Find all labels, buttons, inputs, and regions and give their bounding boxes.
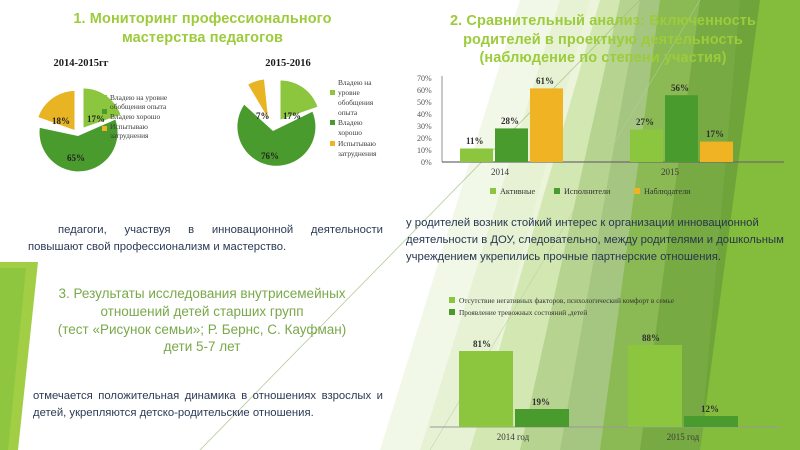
chart3-bar-2015-komfort (628, 345, 682, 427)
chart3-label-2014-trevoga: 19% (532, 397, 550, 407)
chart2-ytick-40: 40% (417, 110, 432, 119)
section1-paragraph: педагоги, участвуя в инновационной деяте… (28, 222, 383, 256)
pie2-legend-swatch-2 (330, 141, 335, 146)
chart2-group-2015: 27% 56% 17% 2015 (630, 83, 733, 177)
pie-chart-2-title: 2015-2016 (233, 58, 343, 69)
chart2-bar-2015-aktivnye (630, 130, 663, 162)
chart2-label-2014-nabludateli: 61% (536, 76, 554, 86)
pie1-label-65: 65% (67, 153, 85, 163)
chart2-label-2015-aktivnye: 27% (636, 117, 654, 127)
chart3-label-2015-trevoga: 12% (701, 404, 719, 414)
chart3-bar-2014-komfort (459, 351, 513, 427)
chart2-legend-label-1: Исполнители (564, 187, 611, 196)
chart2-ytick-50: 50% (417, 98, 432, 107)
chart3-legend-swatch-1 (449, 309, 455, 315)
section3-title-line4: дети 5-7 лет (22, 338, 382, 356)
pie2-legend-swatch-1 (330, 120, 335, 125)
chart2-xtick-2015: 2015 (661, 167, 680, 177)
chart2-ytick-20: 20% (417, 134, 432, 143)
pie2-legend-label-2a: Испытываю (338, 139, 376, 148)
chart2-xtick-2014: 2014 (491, 167, 510, 177)
chart2-ytick-60: 60% (417, 86, 432, 95)
pie1-legend: Владею на уровне обобщения опыта Владею … (102, 93, 168, 140)
chart2-legend-swatch-2 (634, 188, 640, 194)
pie1-label-18: 18% (52, 116, 70, 126)
chart3-xtick-2015: 2015 год (667, 432, 700, 442)
chart3-xtick-2014: 2014 год (497, 432, 530, 442)
chart2-bar-2014-nabludateli (530, 88, 563, 162)
slide-canvas: 1. Мониторинг профессионального мастерст… (0, 0, 800, 450)
chart2-bar-2014-aktivnye (460, 149, 493, 163)
pie1-legend-swatch-1 (102, 109, 107, 114)
chart2-ytick-70: 70% (417, 74, 432, 83)
section2-paragraph: у родителей возник стойкий интерес к орг… (406, 215, 791, 266)
chart2-legend-label-2: Наблюдатели (644, 187, 691, 196)
chart2-ytick-10: 10% (417, 146, 432, 155)
chart2-group-2014: 11% 28% 61% 2014 (460, 76, 563, 177)
section3-title-line2: отношений детей старших групп (22, 303, 382, 321)
pie1-legend-swatch-2 (102, 126, 107, 131)
chart3-legend-swatch-0 (449, 297, 455, 303)
pie1-legend-label-2a: Испытываю (110, 122, 148, 131)
pie1-legend-swatch-0 (102, 95, 107, 100)
chart2-ytick-30: 30% (417, 122, 432, 131)
pie1-legend-label-0a: Владею на уровне (110, 93, 168, 102)
section3-title-line1: 3. Результаты исследования внутрисемейны… (22, 285, 382, 303)
pie1-legend-label-1: Владею хорошо (110, 112, 160, 121)
pie2-label-7: 7% (256, 111, 270, 121)
section3-title: 3. Результаты исследования внутрисемейны… (22, 285, 382, 356)
pie-chart-1-title: 2014-2015гг (26, 58, 136, 69)
section3-title-line3: (тест «Рисунок семьи»; Р. Бернс, С. Кауф… (22, 321, 382, 339)
chart2-legend-swatch-1 (554, 188, 560, 194)
pie2-label-17: 17% (283, 111, 301, 121)
pie2-legend-label-1b: хорошо (338, 128, 362, 137)
chart2-y-axis: 70% 60% 50% 40% 30% 20% 10% 0% (417, 74, 442, 167)
chart3-bar-2015-trevoga (684, 416, 738, 427)
pie1-legend-label-0b: обобщения опыта (110, 102, 167, 111)
pie-chart-2: 17% 7% 76% Владею на уровне обобщения оп… (218, 76, 408, 196)
chart3-legend-label-0: Отсутствие негативных факторов, психолог… (459, 296, 674, 305)
chart3-group-2015: 88% 12% 2015 год (628, 333, 738, 442)
chart3-legend: Отсутствие негативных факторов, психолог… (449, 296, 674, 317)
chart2-label-2015-ispolniteli: 56% (671, 83, 689, 93)
chart2-bar-2015-ispolniteli (665, 95, 698, 162)
chart2-legend-label-0: Активные (500, 187, 535, 196)
pie-charts-group: 2014-2015гг 2015-2016 17% 18% 65% Владею… (18, 58, 403, 198)
pie-chart-1: 17% 18% 65% Владею на уровне обобщения о… (18, 76, 208, 196)
chart2-label-2014-ispolniteli: 28% (501, 116, 519, 126)
pie2-legend-label-2b: затруднения (338, 149, 377, 158)
bar-chart-family-relations: Отсутствие негативных факторов, психолог… (412, 285, 794, 445)
pie2-legend-label-1a: Владею (338, 118, 363, 127)
pie2-legend-swatch-0 (330, 90, 335, 95)
pie2-legend-label-0b: уровне (338, 88, 361, 97)
bar-chart-parent-involvement: 70% 60% 50% 40% 30% 20% 10% 0% 11% 28% 6… (412, 68, 792, 208)
pie2-legend-label-0c: обобщения (338, 98, 374, 107)
chart3-bar-2014-trevoga (515, 409, 569, 427)
chart2-legend-swatch-0 (490, 188, 496, 194)
pie2-label-76: 76% (261, 151, 279, 161)
pie2-legend-label-0d: опыта (338, 108, 358, 117)
pie2-legend-label-0a: Владею на (338, 78, 372, 87)
pie1-legend-label-2b: затруднения (110, 131, 149, 140)
chart2-ytick-0: 0% (421, 158, 432, 167)
chart3-label-2015-komfort: 88% (642, 333, 660, 343)
chart2-label-2014-aktivnye: 11% (466, 136, 484, 146)
section2-title: 2. Сравнительный анализ: Включенность ро… (418, 12, 788, 68)
chart2-legend: Активные Исполнители Наблюдатели (490, 187, 691, 196)
section1-title: 1. Мониторинг профессионального мастерст… (30, 10, 375, 47)
pie1-label-17: 17% (87, 114, 105, 124)
chart2-bar-2014-ispolniteli (495, 128, 528, 162)
section3-paragraph: отмечается положительная динамика в отно… (33, 388, 383, 422)
chart3-label-2014-komfort: 81% (473, 339, 491, 349)
pie2-legend: Владею на уровне обобщения опыта Владею … (330, 78, 377, 158)
chart2-bar-2015-nabludateli (700, 142, 733, 162)
chart2-label-2015-nabludateli: 17% (706, 129, 724, 139)
chart3-legend-label-1: Проявление тревожных состояний ,детей (459, 308, 587, 317)
